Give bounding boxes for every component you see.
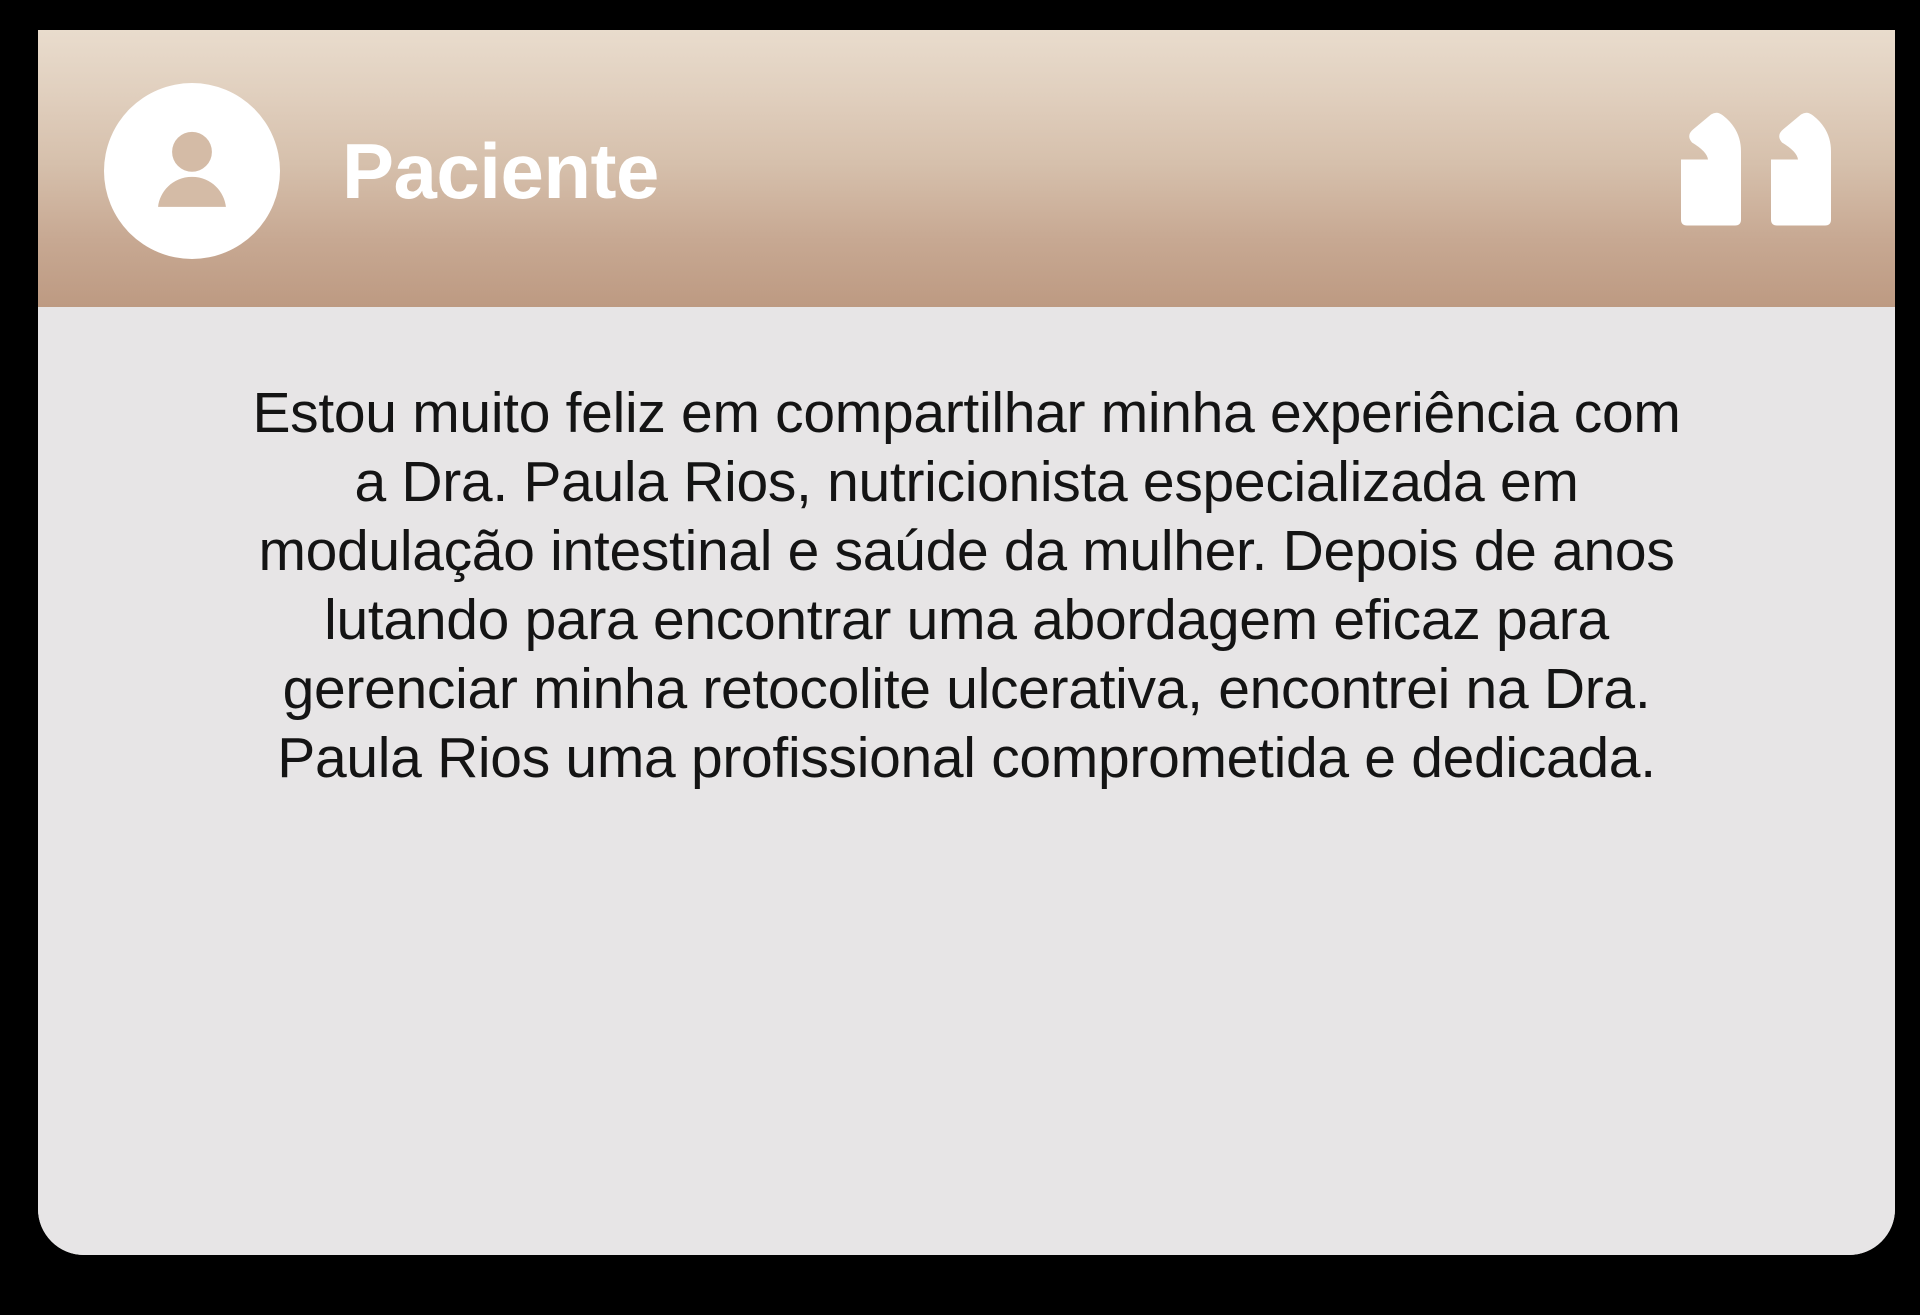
avatar (104, 83, 280, 259)
card-header: Paciente (38, 30, 1895, 307)
double-quote-icon (1677, 105, 1835, 232)
page-background: Paciente Estou muito feliz em compartilh… (0, 0, 1920, 1315)
testimonial-card: Paciente Estou muito feliz em compartilh… (38, 30, 1895, 1255)
page-title: Paciente (342, 132, 659, 210)
user-avatar-icon (133, 112, 251, 230)
testimonial-text: Estou muito feliz em compartilhar minha … (243, 379, 1691, 793)
card-body: Estou muito feliz em compartilhar minha … (38, 307, 1895, 1255)
